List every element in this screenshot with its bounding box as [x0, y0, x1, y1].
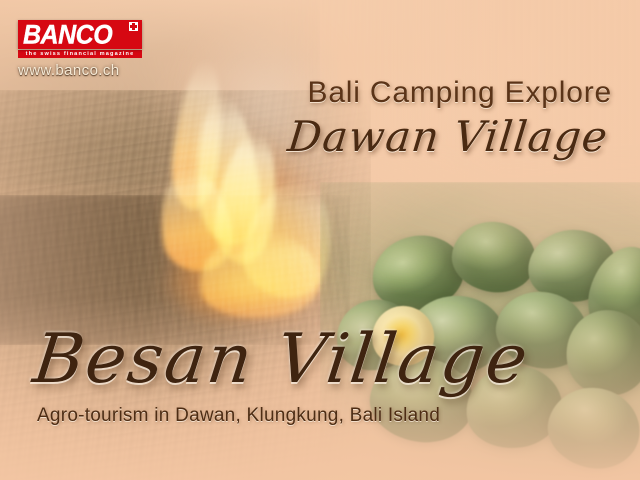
mango	[365, 227, 470, 319]
promo-banner: BANCO the swiss financial magazine www.b…	[0, 0, 640, 480]
title-tagline: Agro-tourism in Dawan, Klungkung, Bali I…	[37, 404, 529, 428]
title-group: Besan Village Agro-tourism in Dawan, Klu…	[34, 322, 529, 428]
headline-kicker: Bali Camping Explore	[288, 76, 612, 110]
logo-wordmark: BANCO	[23, 22, 137, 48]
logo-tagline: the swiss financial magazine	[18, 50, 142, 58]
mango	[578, 238, 640, 350]
mango	[448, 216, 541, 297]
mango	[541, 379, 640, 476]
headline-script: Dawan Village	[286, 112, 611, 162]
mango	[524, 226, 619, 307]
logo-website-url[interactable]: www.banco.ch	[18, 62, 142, 79]
swiss-cross-icon	[129, 22, 138, 31]
page-title: Besan Village	[29, 322, 533, 398]
headline-group: Bali Camping Explore Dawan Village	[288, 76, 612, 162]
logo-box: BANCO	[18, 20, 142, 49]
mango	[557, 301, 640, 405]
banco-logo[interactable]: BANCO the swiss financial magazine www.b…	[18, 20, 142, 79]
